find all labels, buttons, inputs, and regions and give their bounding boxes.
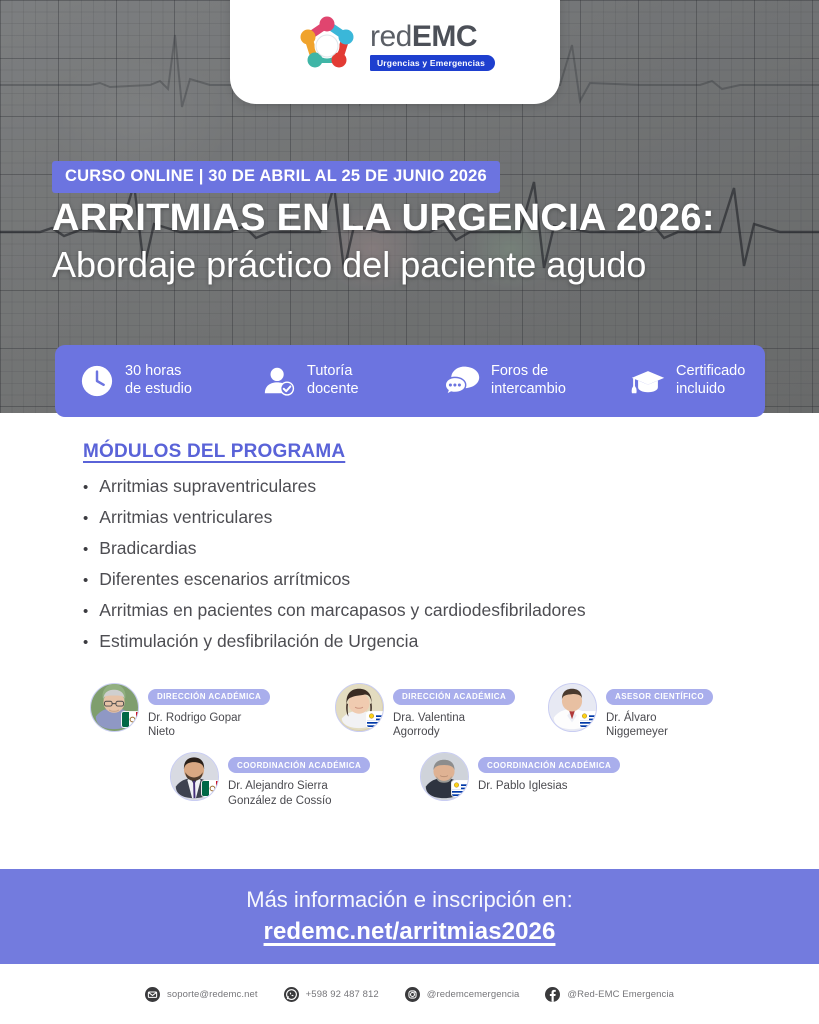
page-title: ARRITMIAS EN LA URGENCIA 2026:	[52, 198, 792, 239]
contact-email[interactable]: soporte@redemc.net	[145, 987, 258, 1002]
facebook-icon	[545, 987, 560, 1002]
feature-label: 30 horas de estudio	[125, 363, 192, 398]
module-label: Diferentes escenarios arrítmicos	[99, 571, 350, 589]
logo-wordmark: redEMC	[370, 22, 495, 52]
modules-heading: MÓDULOS DEL PROGRAMA	[83, 441, 345, 463]
avatar	[420, 752, 469, 801]
module-label: Estimulación y desfibrilación de Urgenci…	[99, 633, 418, 651]
registration-link[interactable]: redemc.net/arritmias2026	[264, 918, 556, 946]
faculty-member-pablo-iglesias: COORDINACIÓN ACADÉMICA Dr. Pablo Iglesia…	[420, 752, 620, 801]
list-item: • Arritmias ventriculares	[83, 509, 743, 540]
bullet-icon: •	[83, 604, 88, 619]
contact-facebook[interactable]: @Red-EMC Emergencia	[545, 987, 674, 1002]
bullet-icon: •	[83, 511, 88, 526]
modules-list: • Arritmias supraventriculares • Arritmi…	[83, 478, 743, 664]
role-badge: DIRECCIÓN ACADÉMICA	[393, 689, 515, 705]
role-badge: ASESOR CIENTÍFICO	[606, 689, 713, 705]
person-name: Dr. Rodrigo Gopar Nieto	[148, 711, 270, 740]
whatsapp-icon	[284, 987, 299, 1002]
avatar	[548, 683, 597, 732]
contact-label: @redemcemergencia	[427, 989, 520, 1000]
clock-icon	[79, 363, 115, 399]
faculty-row: COORDINACIÓN ACADÉMICA Dr. Alejandro Sie…	[0, 752, 819, 809]
mexico-flag-icon	[202, 781, 219, 796]
contact-label: +598 92 487 812	[306, 989, 379, 1000]
mexico-flag-icon	[122, 712, 139, 727]
cta-text: Más información e inscripción en:	[246, 887, 572, 913]
cta-banner: Más información e inscripción en: redemc…	[0, 869, 819, 964]
bullet-icon: •	[83, 480, 88, 495]
contact-bar: soporte@redemc.net +598 92 487 812 @rede…	[0, 964, 819, 1024]
list-item: • Bradicardias	[83, 540, 743, 571]
list-item: • Diferentes escenarios arrítmicos	[83, 571, 743, 602]
uruguay-flag-icon	[580, 712, 597, 727]
faculty-section: DIRECCIÓN ACADÉMICA Dr. Rodrigo Gopar Ni…	[0, 683, 819, 809]
uruguay-flag-icon	[452, 781, 469, 796]
contact-label: soporte@redemc.net	[167, 989, 258, 1000]
bullet-icon: •	[83, 542, 88, 557]
bullet-icon: •	[83, 635, 88, 650]
avatar	[90, 683, 139, 732]
module-label: Bradicardias	[99, 540, 196, 558]
uruguay-flag-icon	[367, 712, 384, 727]
faculty-row: DIRECCIÓN ACADÉMICA Dr. Rodrigo Gopar Ni…	[0, 683, 819, 740]
contact-instagram[interactable]: @redemcemergencia	[405, 987, 520, 1002]
avatar	[335, 683, 384, 732]
feature-certificate: Certificado incluido	[630, 363, 745, 399]
bullet-icon: •	[83, 573, 88, 588]
course-flyer: redEMC Urgencias y Emergencias CURSO ONL…	[0, 0, 819, 1024]
module-label: Arritmias supraventriculares	[99, 478, 316, 496]
module-label: Arritmias ventriculares	[99, 509, 272, 527]
faculty-member-rodrigo-gopar: DIRECCIÓN ACADÉMICA Dr. Rodrigo Gopar Ni…	[90, 683, 335, 740]
person-name: Dr. Alejandro Sierra González de Cossío	[228, 779, 370, 808]
role-badge: COORDINACIÓN ACADÉMICA	[228, 757, 370, 773]
page-subtitle: Abordaje práctico del paciente agudo	[52, 244, 792, 285]
person-name: Dr. Álvaro Niggemeyer	[606, 711, 713, 740]
instagram-icon	[405, 987, 420, 1002]
user-check-icon	[261, 363, 297, 399]
redemc-molecule-icon	[295, 14, 359, 78]
faculty-member-valentina-agorrody: DIRECCIÓN ACADÉMICA Dra. Valentina Agorr…	[335, 683, 548, 740]
faculty-member-alvaro-niggemeyer: ASESOR CIENTÍFICO Dr. Álvaro Niggemeyer	[548, 683, 713, 740]
role-badge: DIRECCIÓN ACADÉMICA	[148, 689, 270, 705]
role-badge: COORDINACIÓN ACADÉMICA	[478, 757, 620, 773]
brand-logo-card: redEMC Urgencias y Emergencias	[230, 0, 560, 104]
logo-tagline: Urgencias y Emergencias	[370, 55, 495, 71]
contact-label: @Red-EMC Emergencia	[567, 989, 674, 1000]
feature-label: Certificado incluido	[676, 363, 745, 398]
list-item: • Arritmias en pacientes con marcapasos …	[83, 602, 743, 633]
avatar	[170, 752, 219, 801]
list-item: • Estimulación y desfibrilación de Urgen…	[83, 633, 743, 664]
feature-tutoring: Tutoría docente	[261, 363, 445, 399]
module-label: Arritmias en pacientes con marcapasos y …	[99, 602, 585, 620]
email-icon	[145, 987, 160, 1002]
features-bar: 30 horas de estudio Tutoría docente	[55, 345, 765, 417]
course-date-badge: CURSO ONLINE | 30 DE ABRIL AL 25 DE JUNI…	[52, 161, 500, 193]
chat-bubbles-icon	[445, 363, 481, 399]
feature-label: Foros de intercambio	[491, 363, 566, 398]
person-name: Dr. Pablo Iglesias	[478, 779, 620, 794]
feature-label: Tutoría docente	[307, 363, 359, 398]
person-name: Dra. Valentina Agorrody	[393, 711, 515, 740]
feature-hours: 30 horas de estudio	[79, 363, 261, 399]
graduation-cap-icon	[630, 363, 666, 399]
contact-whatsapp[interactable]: +598 92 487 812	[284, 987, 379, 1002]
list-item: • Arritmias supraventriculares	[83, 478, 743, 509]
faculty-member-alejandro-sierra: COORDINACIÓN ACADÉMICA Dr. Alejandro Sie…	[170, 752, 420, 809]
feature-forums: Foros de intercambio	[445, 363, 630, 399]
